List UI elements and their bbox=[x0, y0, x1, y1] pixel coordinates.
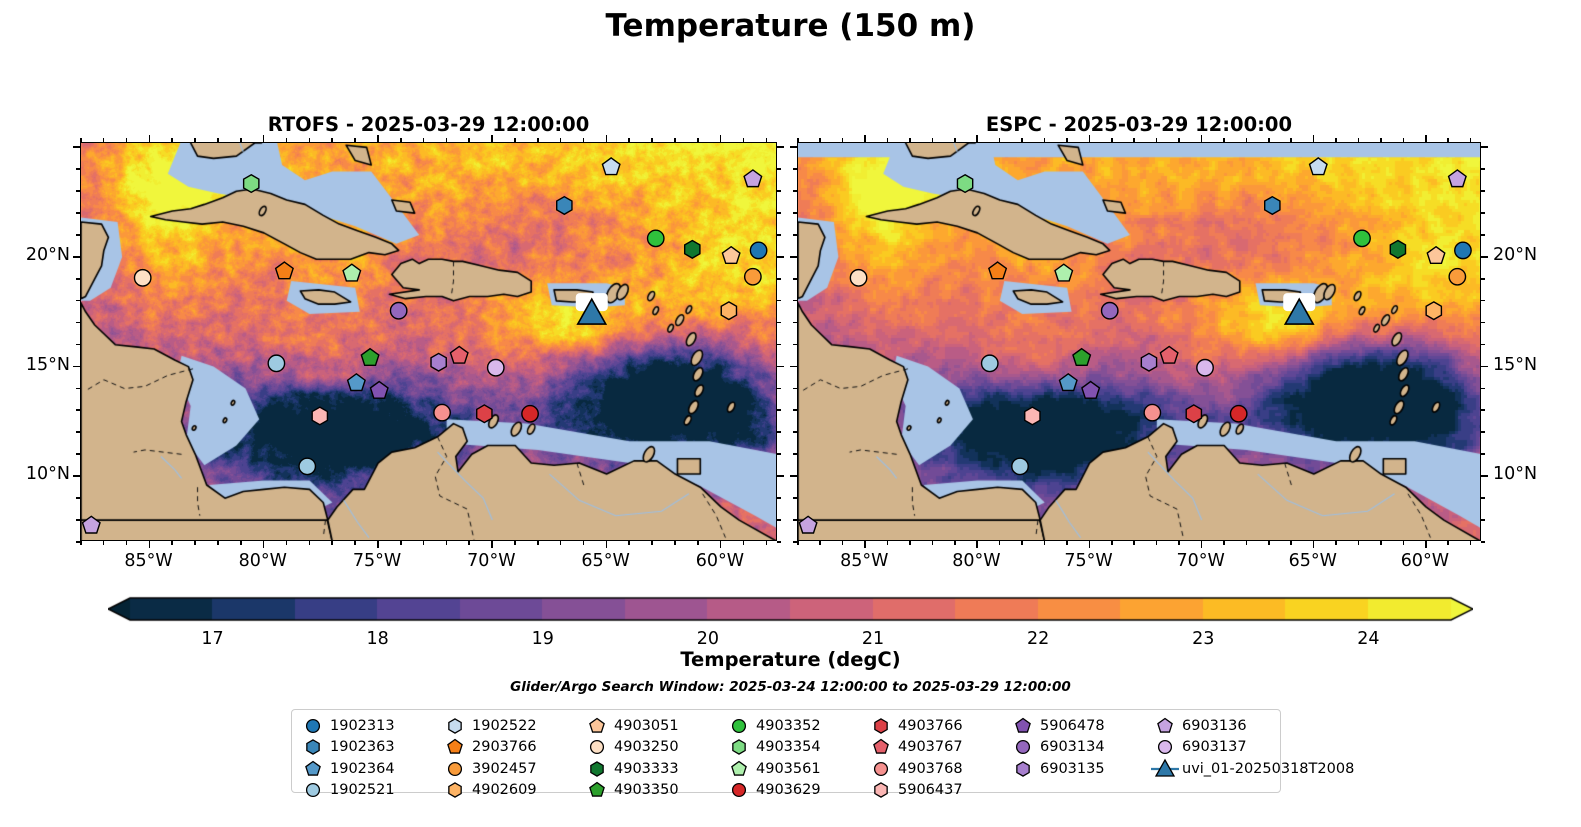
axis-tick bbox=[1021, 138, 1023, 142]
legend-label: 4903354 bbox=[754, 739, 821, 755]
legend-entry[interactable]: uvi_01-20250318T2008 bbox=[1150, 758, 1354, 780]
argo-float-marker[interactable] bbox=[361, 349, 379, 366]
legend-symbol bbox=[866, 737, 896, 758]
axis-tick bbox=[842, 541, 844, 545]
x-axis-tick-label: 80°W bbox=[931, 551, 1021, 571]
x-axis-tick-label: 75°W bbox=[332, 551, 422, 571]
axis-tick bbox=[1403, 138, 1405, 142]
legend-symbol bbox=[298, 715, 328, 736]
map-panel-rtofs[interactable] bbox=[80, 142, 777, 541]
argo-float-marker[interactable] bbox=[1426, 302, 1441, 320]
axis-tick bbox=[1481, 366, 1488, 368]
axis-tick bbox=[1223, 541, 1225, 545]
argo-float-marker[interactable] bbox=[744, 170, 762, 187]
axis-tick bbox=[194, 541, 196, 545]
argo-legend-marker bbox=[448, 740, 462, 754]
axis-tick bbox=[909, 541, 911, 545]
axis-tick bbox=[628, 541, 630, 545]
axis-tick bbox=[1066, 541, 1068, 545]
argo-float-marker[interactable] bbox=[1059, 374, 1077, 391]
x-axis-tick-label: 60°W bbox=[675, 551, 765, 571]
legend-label: 4903561 bbox=[754, 761, 821, 777]
legend-symbol bbox=[866, 715, 896, 736]
argo-float-marker[interactable] bbox=[1455, 242, 1471, 258]
axis-tick bbox=[1335, 138, 1337, 142]
argo-float-marker[interactable] bbox=[648, 230, 664, 246]
argo-float-marker[interactable] bbox=[1354, 230, 1370, 246]
legend-label: 6903135 bbox=[1038, 761, 1105, 777]
axis-tick bbox=[1313, 541, 1315, 548]
axis-tick bbox=[777, 475, 784, 477]
axis-tick bbox=[76, 388, 80, 390]
axis-tick bbox=[1447, 138, 1449, 142]
argo-float-marker[interactable] bbox=[721, 302, 736, 320]
axis-tick bbox=[126, 138, 128, 142]
legend-label: 6903134 bbox=[1038, 739, 1105, 755]
axis-tick bbox=[217, 138, 219, 142]
axis-tick bbox=[1447, 541, 1449, 545]
axis-tick bbox=[777, 256, 784, 258]
argo-float-marker[interactable] bbox=[1141, 353, 1156, 371]
legend-label: 4902609 bbox=[470, 782, 537, 798]
legend-entry[interactable]: 4903333 bbox=[582, 758, 724, 780]
argo-float-marker[interactable] bbox=[1186, 405, 1201, 423]
legend-entry[interactable]: 5906478 bbox=[1008, 715, 1150, 737]
legend-label: 4903768 bbox=[896, 761, 963, 777]
axis-tick bbox=[1201, 541, 1203, 548]
legend-symbol bbox=[724, 715, 754, 736]
argo-float-marker[interactable] bbox=[276, 262, 294, 279]
legend-entry[interactable]: 4903766 bbox=[866, 715, 1008, 737]
legend-symbol bbox=[440, 758, 470, 779]
axis-tick bbox=[606, 135, 608, 142]
legend-entry[interactable]: 3902457 bbox=[440, 758, 582, 780]
legend-label: 6903136 bbox=[1180, 718, 1247, 734]
legend-entry[interactable]: 4903352 bbox=[724, 715, 866, 737]
argo-float-marker[interactable] bbox=[390, 303, 406, 319]
axis-tick bbox=[286, 541, 288, 545]
axis-tick bbox=[76, 497, 80, 499]
axis-tick bbox=[400, 541, 402, 545]
legend-symbol bbox=[440, 715, 470, 736]
legend-entry[interactable]: 1902521 bbox=[298, 780, 440, 802]
legend-label: 1902313 bbox=[328, 718, 395, 734]
axis-tick bbox=[76, 453, 80, 455]
argo-float-marker[interactable] bbox=[1082, 382, 1100, 399]
argo-legend-marker bbox=[449, 783, 461, 797]
axis-tick bbox=[76, 212, 80, 214]
legend-entry[interactable]: 4903767 bbox=[866, 737, 1008, 759]
argo-float-marker[interactable] bbox=[1025, 407, 1040, 425]
axis-tick bbox=[583, 138, 585, 142]
argo-float-marker[interactable] bbox=[982, 355, 998, 371]
argo-float-marker[interactable] bbox=[1160, 346, 1178, 363]
argo-float-marker[interactable] bbox=[1102, 303, 1118, 319]
argo-float-marker[interactable] bbox=[1012, 458, 1028, 474]
argo-float-marker[interactable] bbox=[1073, 349, 1091, 366]
legend-entry[interactable]: 6903137 bbox=[1150, 737, 1354, 759]
axis-tick bbox=[766, 138, 768, 142]
axis-tick bbox=[446, 138, 448, 142]
axis-tick bbox=[1425, 541, 1427, 548]
argo-float-marker[interactable] bbox=[1390, 241, 1405, 259]
axis-tick bbox=[1481, 388, 1485, 390]
axis-tick bbox=[76, 519, 80, 521]
axis-tick bbox=[171, 541, 173, 545]
legend-entry[interactable]: 6903134 bbox=[1008, 737, 1150, 759]
axis-tick bbox=[777, 322, 781, 324]
legend-entry[interactable]: 4903354 bbox=[724, 737, 866, 759]
axis-tick bbox=[446, 541, 448, 545]
axis-tick bbox=[674, 541, 676, 545]
axis-tick bbox=[1178, 541, 1180, 545]
colorbar-tick-label: 18 bbox=[356, 629, 400, 649]
axis-tick bbox=[819, 541, 821, 545]
axis-tick bbox=[171, 138, 173, 142]
axis-tick bbox=[80, 138, 82, 142]
legend-label: 1902521 bbox=[328, 782, 395, 798]
argo-legend-marker bbox=[733, 719, 746, 732]
colorbar[interactable] bbox=[108, 592, 1473, 626]
legend-entry[interactable]: 6903136 bbox=[1150, 715, 1354, 737]
axis-tick bbox=[793, 519, 797, 521]
argo-float-marker[interactable] bbox=[434, 404, 450, 420]
axis-tick bbox=[793, 431, 797, 433]
argo-float-marker[interactable] bbox=[722, 247, 740, 264]
argo-float-marker[interactable] bbox=[685, 241, 700, 259]
axis-tick bbox=[628, 138, 630, 142]
axis-tick bbox=[793, 541, 797, 543]
argo-float-marker[interactable] bbox=[989, 262, 1007, 279]
legend-label: 4903766 bbox=[896, 718, 963, 734]
axis-tick bbox=[263, 135, 265, 142]
argo-float-marker[interactable] bbox=[1144, 404, 1160, 420]
argo-legend-marker bbox=[733, 784, 746, 797]
axis-tick bbox=[423, 541, 425, 545]
argo-legend-marker bbox=[306, 761, 320, 775]
axis-tick bbox=[887, 541, 889, 545]
axis-tick bbox=[1470, 138, 1472, 142]
axis-tick bbox=[309, 138, 311, 142]
axis-tick bbox=[720, 135, 722, 142]
axis-tick bbox=[1290, 541, 1292, 545]
x-axis-tick-label: 65°W bbox=[561, 551, 651, 571]
legend-symbol bbox=[1008, 758, 1038, 779]
legend-label: 1902522 bbox=[470, 718, 537, 734]
axis-tick bbox=[1066, 138, 1068, 142]
axis-tick bbox=[1481, 300, 1485, 302]
argo-float-marker[interactable] bbox=[799, 516, 817, 533]
x-axis-tick-label: 75°W bbox=[1044, 551, 1134, 571]
axis-tick bbox=[720, 541, 722, 548]
axis-tick bbox=[1021, 541, 1023, 545]
legend-label: 4903051 bbox=[612, 718, 679, 734]
argo-float-marker[interactable] bbox=[1310, 158, 1328, 175]
axis-tick bbox=[793, 278, 797, 280]
legend-symbol bbox=[298, 758, 328, 779]
axis-tick bbox=[777, 234, 781, 236]
argo-float-marker[interactable] bbox=[312, 407, 327, 425]
axis-tick bbox=[309, 541, 311, 545]
axis-tick bbox=[606, 541, 608, 548]
legend-symbol bbox=[866, 780, 896, 801]
axis-tick bbox=[743, 541, 745, 545]
argo-float-marker[interactable] bbox=[450, 346, 468, 363]
axis-tick bbox=[777, 300, 781, 302]
axis-tick bbox=[103, 541, 105, 545]
legend-entry[interactable]: 1902363 bbox=[298, 737, 440, 759]
axis-tick bbox=[777, 519, 781, 521]
axis-tick bbox=[777, 541, 781, 543]
argo-float-marker[interactable] bbox=[1197, 360, 1213, 376]
argo-legend-marker bbox=[591, 762, 603, 776]
argo-legend-marker bbox=[732, 761, 746, 775]
axis-tick bbox=[76, 234, 80, 236]
axis-tick bbox=[777, 497, 781, 499]
axis-tick bbox=[1268, 541, 1270, 545]
legend-label: 4903250 bbox=[612, 739, 679, 755]
argo-float-marker[interactable] bbox=[83, 516, 101, 533]
axis-tick bbox=[777, 146, 784, 148]
legend-entry[interactable]: 4903250 bbox=[582, 737, 724, 759]
argo-float-marker[interactable] bbox=[477, 405, 492, 423]
argo-float-marker[interactable] bbox=[850, 270, 866, 286]
argo-float-marker[interactable] bbox=[1055, 264, 1073, 281]
y-axis-tick-label: 15°N bbox=[0, 355, 70, 375]
legend-entry[interactable]: 4903629 bbox=[724, 780, 866, 802]
legend-entry[interactable]: 4903051 bbox=[582, 715, 724, 737]
axis-tick bbox=[80, 541, 82, 545]
axis-tick bbox=[864, 135, 866, 142]
legend-label: 4903333 bbox=[612, 761, 679, 777]
argo-legend-marker bbox=[307, 719, 320, 732]
legend-symbol bbox=[582, 758, 612, 779]
axis-tick bbox=[1481, 190, 1485, 192]
argo-float-marker[interactable] bbox=[348, 374, 366, 391]
axis-tick bbox=[76, 344, 80, 346]
legend-label: 4903352 bbox=[754, 718, 821, 734]
legend-symbol bbox=[724, 780, 754, 801]
axis-tick bbox=[423, 138, 425, 142]
legend-symbol bbox=[440, 780, 470, 801]
axis-tick bbox=[1481, 278, 1485, 280]
axis-tick bbox=[1481, 212, 1485, 214]
axis-tick bbox=[1156, 541, 1158, 545]
legend-grid: 1902313190236319023641902521190252229037… bbox=[298, 715, 1354, 801]
axis-tick bbox=[1481, 344, 1485, 346]
axis-tick bbox=[537, 541, 539, 545]
axis-tick bbox=[793, 300, 797, 302]
axis-tick bbox=[777, 212, 781, 214]
argo-float-marker[interactable] bbox=[431, 353, 446, 371]
axis-tick bbox=[286, 138, 288, 142]
legend-label: 5906437 bbox=[896, 782, 963, 798]
y-axis-tick-label: 15°N bbox=[1493, 355, 1571, 375]
argo-float-marker[interactable] bbox=[557, 197, 572, 215]
legend-symbol bbox=[1008, 737, 1038, 758]
axis-tick bbox=[76, 431, 80, 433]
axis-tick bbox=[377, 541, 379, 548]
axis-tick bbox=[73, 366, 80, 368]
argo-float-marker[interactable] bbox=[370, 382, 388, 399]
axis-tick bbox=[537, 138, 539, 142]
legend-entry[interactable]: 6903135 bbox=[1008, 758, 1150, 780]
axis-tick bbox=[1403, 541, 1405, 545]
argo-legend-marker bbox=[307, 784, 320, 797]
axis-tick bbox=[819, 138, 821, 142]
legend-label: 5906478 bbox=[1038, 718, 1105, 734]
axis-tick bbox=[1156, 138, 1158, 142]
axis-tick bbox=[976, 135, 978, 142]
legend-label: 1902364 bbox=[328, 761, 395, 777]
legend-entry[interactable]: 1902313 bbox=[298, 715, 440, 737]
axis-tick bbox=[954, 541, 956, 545]
axis-tick bbox=[514, 138, 516, 142]
x-axis-tick-label: 80°W bbox=[218, 551, 308, 571]
argo-float-marker[interactable] bbox=[1427, 247, 1445, 264]
axis-tick bbox=[583, 541, 585, 545]
axis-tick bbox=[103, 138, 105, 142]
axis-tick bbox=[1380, 138, 1382, 142]
axis-tick bbox=[76, 300, 80, 302]
legend-symbol bbox=[1150, 737, 1180, 758]
argo-float-marker[interactable] bbox=[299, 458, 315, 474]
legend-label: uvi_01-20250318T2008 bbox=[1180, 761, 1354, 777]
x-axis-tick-label: 60°W bbox=[1380, 551, 1470, 571]
axis-tick bbox=[76, 409, 80, 411]
argo-legend-marker bbox=[449, 762, 462, 775]
axis-tick bbox=[377, 135, 379, 142]
argo-legend-marker bbox=[874, 740, 888, 754]
axis-tick bbox=[887, 138, 889, 142]
argo-float-marker[interactable] bbox=[1449, 269, 1465, 285]
axis-tick bbox=[777, 278, 781, 280]
axis-tick bbox=[73, 475, 80, 477]
axis-tick bbox=[793, 453, 797, 455]
legend-label: 1902363 bbox=[328, 739, 395, 755]
axis-tick bbox=[1313, 135, 1315, 142]
axis-tick bbox=[793, 190, 797, 192]
legend-entry[interactable]: 4903350 bbox=[582, 780, 724, 802]
argo-float-marker[interactable] bbox=[1265, 197, 1280, 215]
axis-tick bbox=[1246, 541, 1248, 545]
legend-symbol bbox=[440, 737, 470, 758]
colorbar-tick-label: 24 bbox=[1346, 629, 1390, 649]
argo-float-marker[interactable] bbox=[343, 264, 361, 281]
axis-tick bbox=[793, 409, 797, 411]
axis-tick bbox=[797, 541, 799, 545]
axis-tick bbox=[651, 541, 653, 545]
argo-legend-marker bbox=[875, 719, 887, 733]
search-window-text: Glider/Argo Search Window: 2025-03-24 12… bbox=[0, 679, 1581, 695]
x-axis-tick-label: 85°W bbox=[819, 551, 909, 571]
axis-tick bbox=[149, 541, 151, 548]
axis-tick bbox=[331, 541, 333, 545]
axis-tick bbox=[1290, 138, 1292, 142]
argo-float-marker[interactable] bbox=[135, 270, 151, 286]
colorbar-tick-label: 22 bbox=[1016, 629, 1060, 649]
legend-symbol bbox=[866, 758, 896, 779]
argo-legend-marker bbox=[590, 718, 604, 732]
argo-float-marker[interactable] bbox=[745, 269, 761, 285]
axis-tick bbox=[1481, 409, 1485, 411]
axis-tick bbox=[793, 388, 797, 390]
axis-tick bbox=[1425, 135, 1427, 142]
argo-float-marker[interactable] bbox=[522, 406, 538, 422]
axis-tick bbox=[790, 366, 797, 368]
x-axis-tick-label: 85°W bbox=[104, 551, 194, 571]
argo-float-marker[interactable] bbox=[750, 242, 766, 258]
legend-symbol bbox=[582, 715, 612, 736]
axis-tick bbox=[790, 256, 797, 258]
axis-tick bbox=[790, 475, 797, 477]
legend-symbol bbox=[1150, 758, 1180, 779]
argo-legend-marker bbox=[590, 783, 604, 797]
y-axis-tick-label: 20°N bbox=[0, 245, 70, 265]
panel-title-espc: ESPC - 2025-03-29 12:00:00 bbox=[797, 113, 1481, 136]
axis-tick bbox=[263, 541, 265, 548]
axis-tick bbox=[73, 256, 80, 258]
axis-tick bbox=[790, 146, 797, 148]
y-axis-tick-label: 20°N bbox=[1493, 245, 1571, 265]
axis-tick bbox=[954, 138, 956, 142]
argo-float-marker[interactable] bbox=[1449, 170, 1467, 187]
axis-tick bbox=[999, 541, 1001, 545]
axis-tick bbox=[797, 138, 799, 142]
axis-tick bbox=[1335, 541, 1337, 545]
axis-tick bbox=[793, 344, 797, 346]
legend-entry[interactable]: 1902364 bbox=[298, 758, 440, 780]
axis-tick bbox=[1481, 475, 1488, 477]
legend-label: 2903766 bbox=[470, 739, 537, 755]
axis-tick bbox=[468, 541, 470, 545]
colorbar-tick-label: 17 bbox=[191, 629, 235, 649]
legend-label: 4903767 bbox=[896, 739, 963, 755]
legend-entry[interactable]: 4903768 bbox=[866, 758, 1008, 780]
legend-entry[interactable]: 4902609 bbox=[440, 780, 582, 802]
axis-tick bbox=[793, 497, 797, 499]
argo-float-marker[interactable] bbox=[957, 175, 972, 193]
argo-float-marker[interactable] bbox=[244, 175, 259, 193]
legend-column: 4903766490376749037685906437 bbox=[866, 715, 1008, 801]
axis-tick bbox=[491, 135, 493, 142]
axis-tick bbox=[777, 190, 781, 192]
argo-float-marker[interactable] bbox=[268, 355, 284, 371]
argo-float-marker[interactable] bbox=[602, 158, 620, 175]
axis-tick bbox=[793, 234, 797, 236]
page-title: Temperature (150 m) bbox=[0, 8, 1581, 44]
argo-legend-marker bbox=[307, 740, 319, 754]
legend-entry[interactable]: 4903561 bbox=[724, 758, 866, 780]
axis-tick bbox=[1111, 138, 1113, 142]
axis-tick bbox=[1201, 135, 1203, 142]
argo-legend-marker bbox=[1016, 718, 1030, 732]
axis-tick bbox=[697, 541, 699, 545]
argo-float-marker[interactable] bbox=[488, 360, 504, 376]
axis-tick bbox=[560, 138, 562, 142]
axis-tick bbox=[76, 541, 80, 543]
x-axis-tick-label: 70°W bbox=[1156, 551, 1246, 571]
map-panel-espc[interactable] bbox=[797, 142, 1481, 541]
argo-float-marker[interactable] bbox=[1230, 406, 1246, 422]
axis-tick bbox=[909, 138, 911, 142]
legend-column: 1902522290376639024574902609 bbox=[440, 715, 582, 801]
legend-entry[interactable]: 5906437 bbox=[866, 780, 1008, 802]
legend-entry[interactable]: 2903766 bbox=[440, 737, 582, 759]
argo-legend-marker bbox=[875, 783, 887, 797]
axis-tick bbox=[651, 138, 653, 142]
legend-entry[interactable]: 1902522 bbox=[440, 715, 582, 737]
